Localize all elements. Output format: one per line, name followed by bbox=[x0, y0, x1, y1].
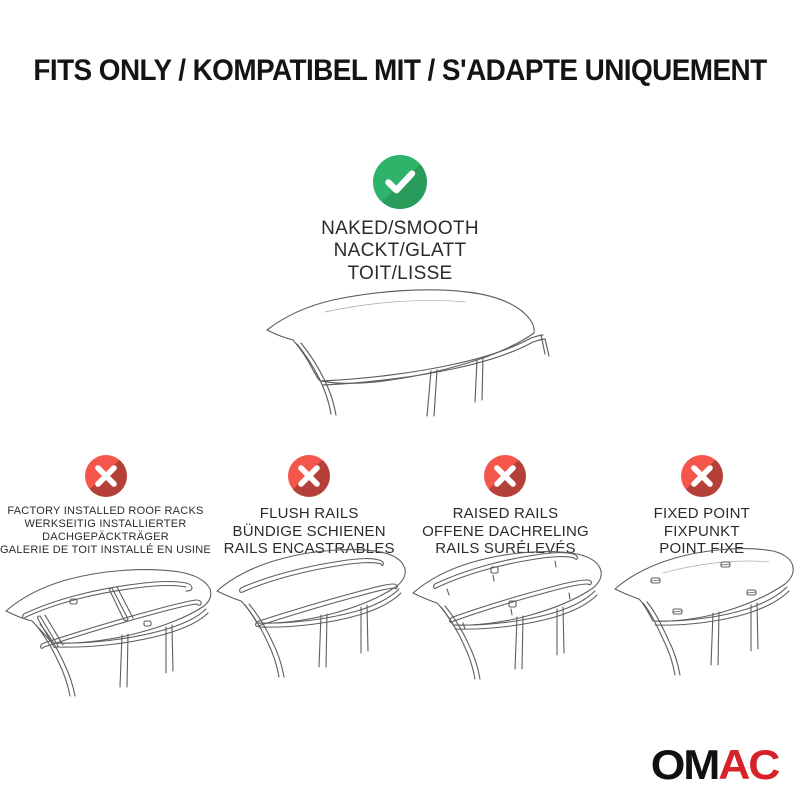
car-roof-factory-roof-racks-illustration bbox=[0, 547, 216, 697]
cross-icon bbox=[85, 455, 127, 497]
compatible-caption: NAKED/SMOOTH NACKT/GLATT TOIT/LISSE bbox=[0, 218, 800, 285]
incompatible-section-factory-roof-racks: FACTORY INSTALLED ROOF RACKS WERKSEITIG … bbox=[0, 455, 211, 558]
caption-line-2: WERKSEITIG INSTALLIERTER bbox=[0, 518, 211, 531]
caption-line-1: FIXED POINT bbox=[604, 505, 800, 523]
compatible-line-2: NACKT/GLATT bbox=[0, 240, 800, 262]
compatible-line-1: NAKED/SMOOTH bbox=[0, 218, 800, 240]
cross-icon bbox=[681, 455, 723, 497]
car-roof-flush-rails-illustration bbox=[209, 535, 409, 685]
cross-icon bbox=[484, 455, 526, 497]
logo-text-ac: AC bbox=[718, 741, 778, 788]
cross-icon bbox=[288, 455, 330, 497]
car-roof-raised-rails-illustration bbox=[405, 535, 605, 685]
incompatible-section-fixed-point: FIXED POINT FIXPUNKT POINT FIXE bbox=[604, 455, 800, 558]
incompatible-section-raised-rails: RAISED RAILS OFFENE DACHRELING RAILS SUR… bbox=[407, 455, 603, 558]
caption-line-1: RAISED RAILS bbox=[407, 505, 603, 523]
caption-line-1: FLUSH RAILS bbox=[211, 505, 407, 523]
omac-logo: OMAC bbox=[650, 744, 778, 786]
incompatible-section-flush-rails: FLUSH RAILS BÜNDIGE SCHIENEN RAILS ENCAS… bbox=[211, 455, 407, 558]
caption-line-1: FACTORY INSTALLED ROOF RACKS bbox=[0, 505, 211, 518]
page-title: FITS ONLY / KOMPATIBEL MIT / S'ADAPTE UN… bbox=[28, 54, 772, 88]
incompatible-sections: FACTORY INSTALLED ROOF RACKS WERKSEITIG … bbox=[0, 455, 800, 558]
caption-line-3: DACHGEPÄCKTRÄGER bbox=[0, 531, 211, 544]
car-roof-naked-smooth-illustration bbox=[255, 278, 555, 428]
compatible-section: NAKED/SMOOTH NACKT/GLATT TOIT/LISSE bbox=[0, 155, 800, 285]
car-roof-fixed-point-illustration bbox=[607, 535, 797, 685]
logo-text-om: OM bbox=[650, 741, 717, 788]
check-icon bbox=[373, 155, 427, 209]
